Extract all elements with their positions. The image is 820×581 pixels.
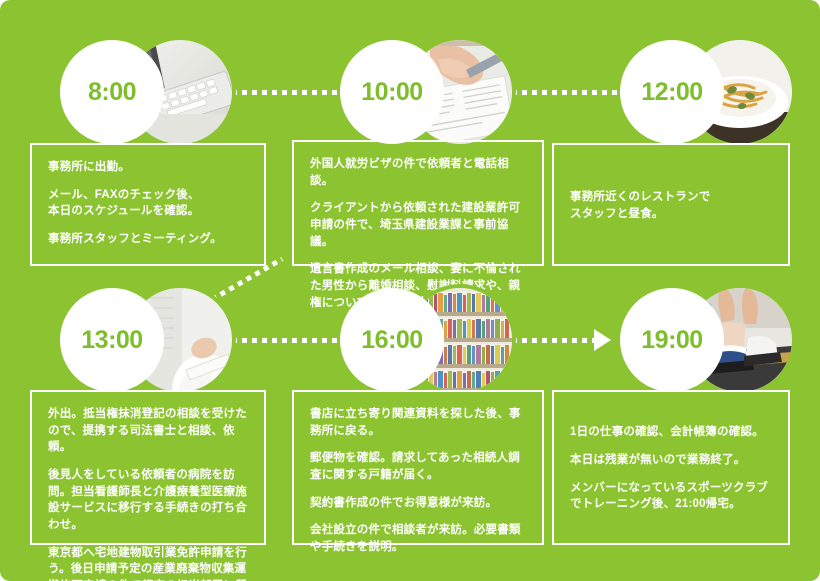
panel-line: 外国人就労ビザの件で依頼者と電話相談。 <box>310 156 526 189</box>
panel-line: 外出。抵当権抹消登記の相談を受けたので、提携する司法書士と相談、依頼。 <box>48 406 248 456</box>
panel-line: 後見人をしている依頼者の病院を訪問。担当看護師長と介護療養型医療施設サービスに移… <box>48 467 248 534</box>
arrow-to-19 <box>594 329 611 351</box>
timeline-node-0-1: 10:00 <box>340 40 512 144</box>
time-badge-12-00: 12:00 <box>620 40 724 144</box>
panel-12-00: 事務所近くのレストランで スタッフと昼食。 <box>552 143 790 266</box>
timeline-node-1-1: 16:00 <box>340 288 512 392</box>
time-label: 10:00 <box>361 80 422 105</box>
connector-8-to-10 <box>222 90 340 95</box>
panel-line: メンバーになっているスポーツクラブでトレーニング後、21:00帰宅。 <box>570 480 772 513</box>
time-label: 16:00 <box>361 328 422 353</box>
timeline-node-0-0: 8:00 <box>60 40 232 144</box>
panel-line: 郵便物を確認。請求してあった相続人調査に関する戸籍が届く。 <box>310 450 526 483</box>
time-badge-13-00: 13:00 <box>60 288 164 392</box>
connector-13-to-16 <box>222 338 340 343</box>
panel-line: メール、FAXのチェック後、 本日のスケジュールを確認。 <box>48 187 248 220</box>
time-label: 8:00 <box>88 80 136 105</box>
connector-16-to-19 <box>502 338 594 343</box>
panel-16-00: 書店に立ち寄り関連資料を探した後、事務所に戻る。 郵便物を確認。請求してあった相… <box>292 390 544 545</box>
panel-line: 東京都へ宅地建物取引業免許申請を行う。後日申請予定の産業廃棄物収集運搬許可申請の… <box>48 545 248 581</box>
time-label: 19:00 <box>641 328 702 353</box>
panel-13-00: 外出。抵当権抹消登記の相談を受けたので、提携する司法書士と相談、依頼。 後見人を… <box>30 390 266 545</box>
panel-8-00: 事務所に出勤。 メール、FAXのチェック後、 本日のスケジュールを確認。 事務所… <box>30 143 266 266</box>
panel-19-00: 1日の仕事の確認、会計帳簿の確認。 本日は残業が無いので業務終了。 メンバーにな… <box>552 390 790 545</box>
panel-line: 書店に立ち寄り関連資料を探した後、事務所に戻る。 <box>310 406 526 439</box>
time-badge-8-00: 8:00 <box>60 40 164 144</box>
panel-line: 契約書作成の件でお得意様が来訪。 <box>310 495 526 512</box>
timeline-infographic: 8:00 <box>0 0 820 581</box>
time-badge-10-00: 10:00 <box>340 40 444 144</box>
connector-10-to-12 <box>502 90 618 95</box>
panel-line: クライアントから依頼された建設業許可申請の件で、埼玉県建設業課と事前協議。 <box>310 200 526 250</box>
panel-line: 事務所スタッフとミーティング。 <box>48 231 248 248</box>
panel-line: 会社設立の件で相談者が来訪。必要書類や手続きを説明。 <box>310 522 526 555</box>
time-badge-19-00: 19:00 <box>620 288 724 392</box>
panel-line: 事務所近くのレストランで スタッフと昼食。 <box>570 189 772 222</box>
panel-line: 本日は残業が無いので業務終了。 <box>570 452 772 469</box>
timeline-node-1-2: 19:00 <box>620 288 792 392</box>
time-label: 13:00 <box>81 328 142 353</box>
panel-line: 事務所に出勤。 <box>48 159 248 176</box>
timeline-node-0-2: 12:00 <box>620 40 792 144</box>
panel-line: 1日の仕事の確認、会計帳簿の確認。 <box>570 424 772 441</box>
timeline-node-1-0: 13:00 <box>60 288 232 392</box>
time-badge-16-00: 16:00 <box>340 288 444 392</box>
time-label: 12:00 <box>641 80 702 105</box>
panel-10-00: 外国人就労ビザの件で依頼者と電話相談。 クライアントから依頼された建設業許可申請… <box>292 140 544 266</box>
